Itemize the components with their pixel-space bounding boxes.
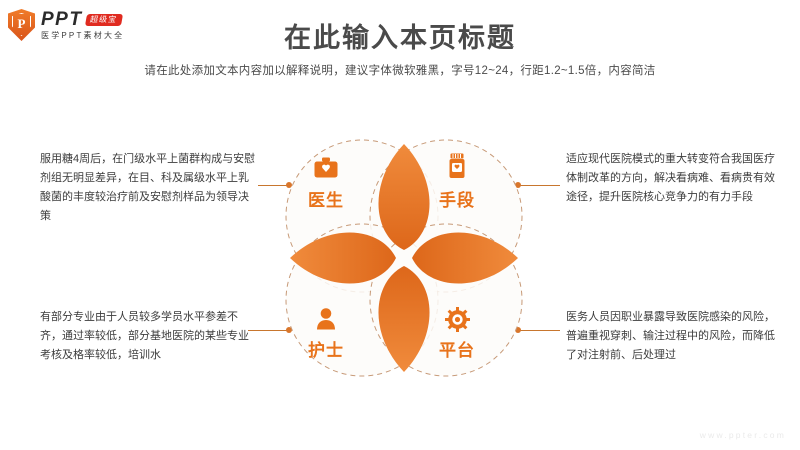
node-label-means: 手段: [417, 186, 497, 211]
callout-bottom-right: 医务人员因职业暴露导致医院感染的风险，普遍重视穿刺、输注过程中的风险，而降低了对…: [566, 308, 784, 365]
page-subtitle: 请在此处添加文本内容加以解释说明，建议字体微软雅黑，字号12~24，行距1.2~…: [0, 62, 800, 78]
medicine-bottle-icon: [440, 152, 474, 180]
callout-top-left: 服用糖4周后，在门级水平上菌群构成与安慰剂组无明显差异，在目、科及属级水平上乳酸…: [40, 150, 258, 226]
gear-icon: [440, 305, 474, 333]
page-title: 在此输入本页标题: [0, 16, 800, 55]
venn-petal-diagram: 医生 手段 护士: [268, 122, 540, 394]
callout-top-right: 适应现代医院模式的重大转变符合我国医疗体制改革的方向，解决看病难、看病贵有效途径…: [566, 150, 784, 207]
medical-bag-icon: [309, 154, 343, 182]
node-label-platform: 平台: [417, 336, 497, 361]
callout-bottom-left: 有部分专业由于人员较多学员水平参差不齐，通过率较低，部分基地医院的某些专业考核及…: [40, 308, 258, 365]
footer-watermark: www.ppter.com: [700, 430, 786, 440]
node-label-doctor: 医生: [286, 186, 366, 211]
node-label-nurse: 护士: [286, 336, 366, 361]
person-icon: [309, 305, 343, 333]
